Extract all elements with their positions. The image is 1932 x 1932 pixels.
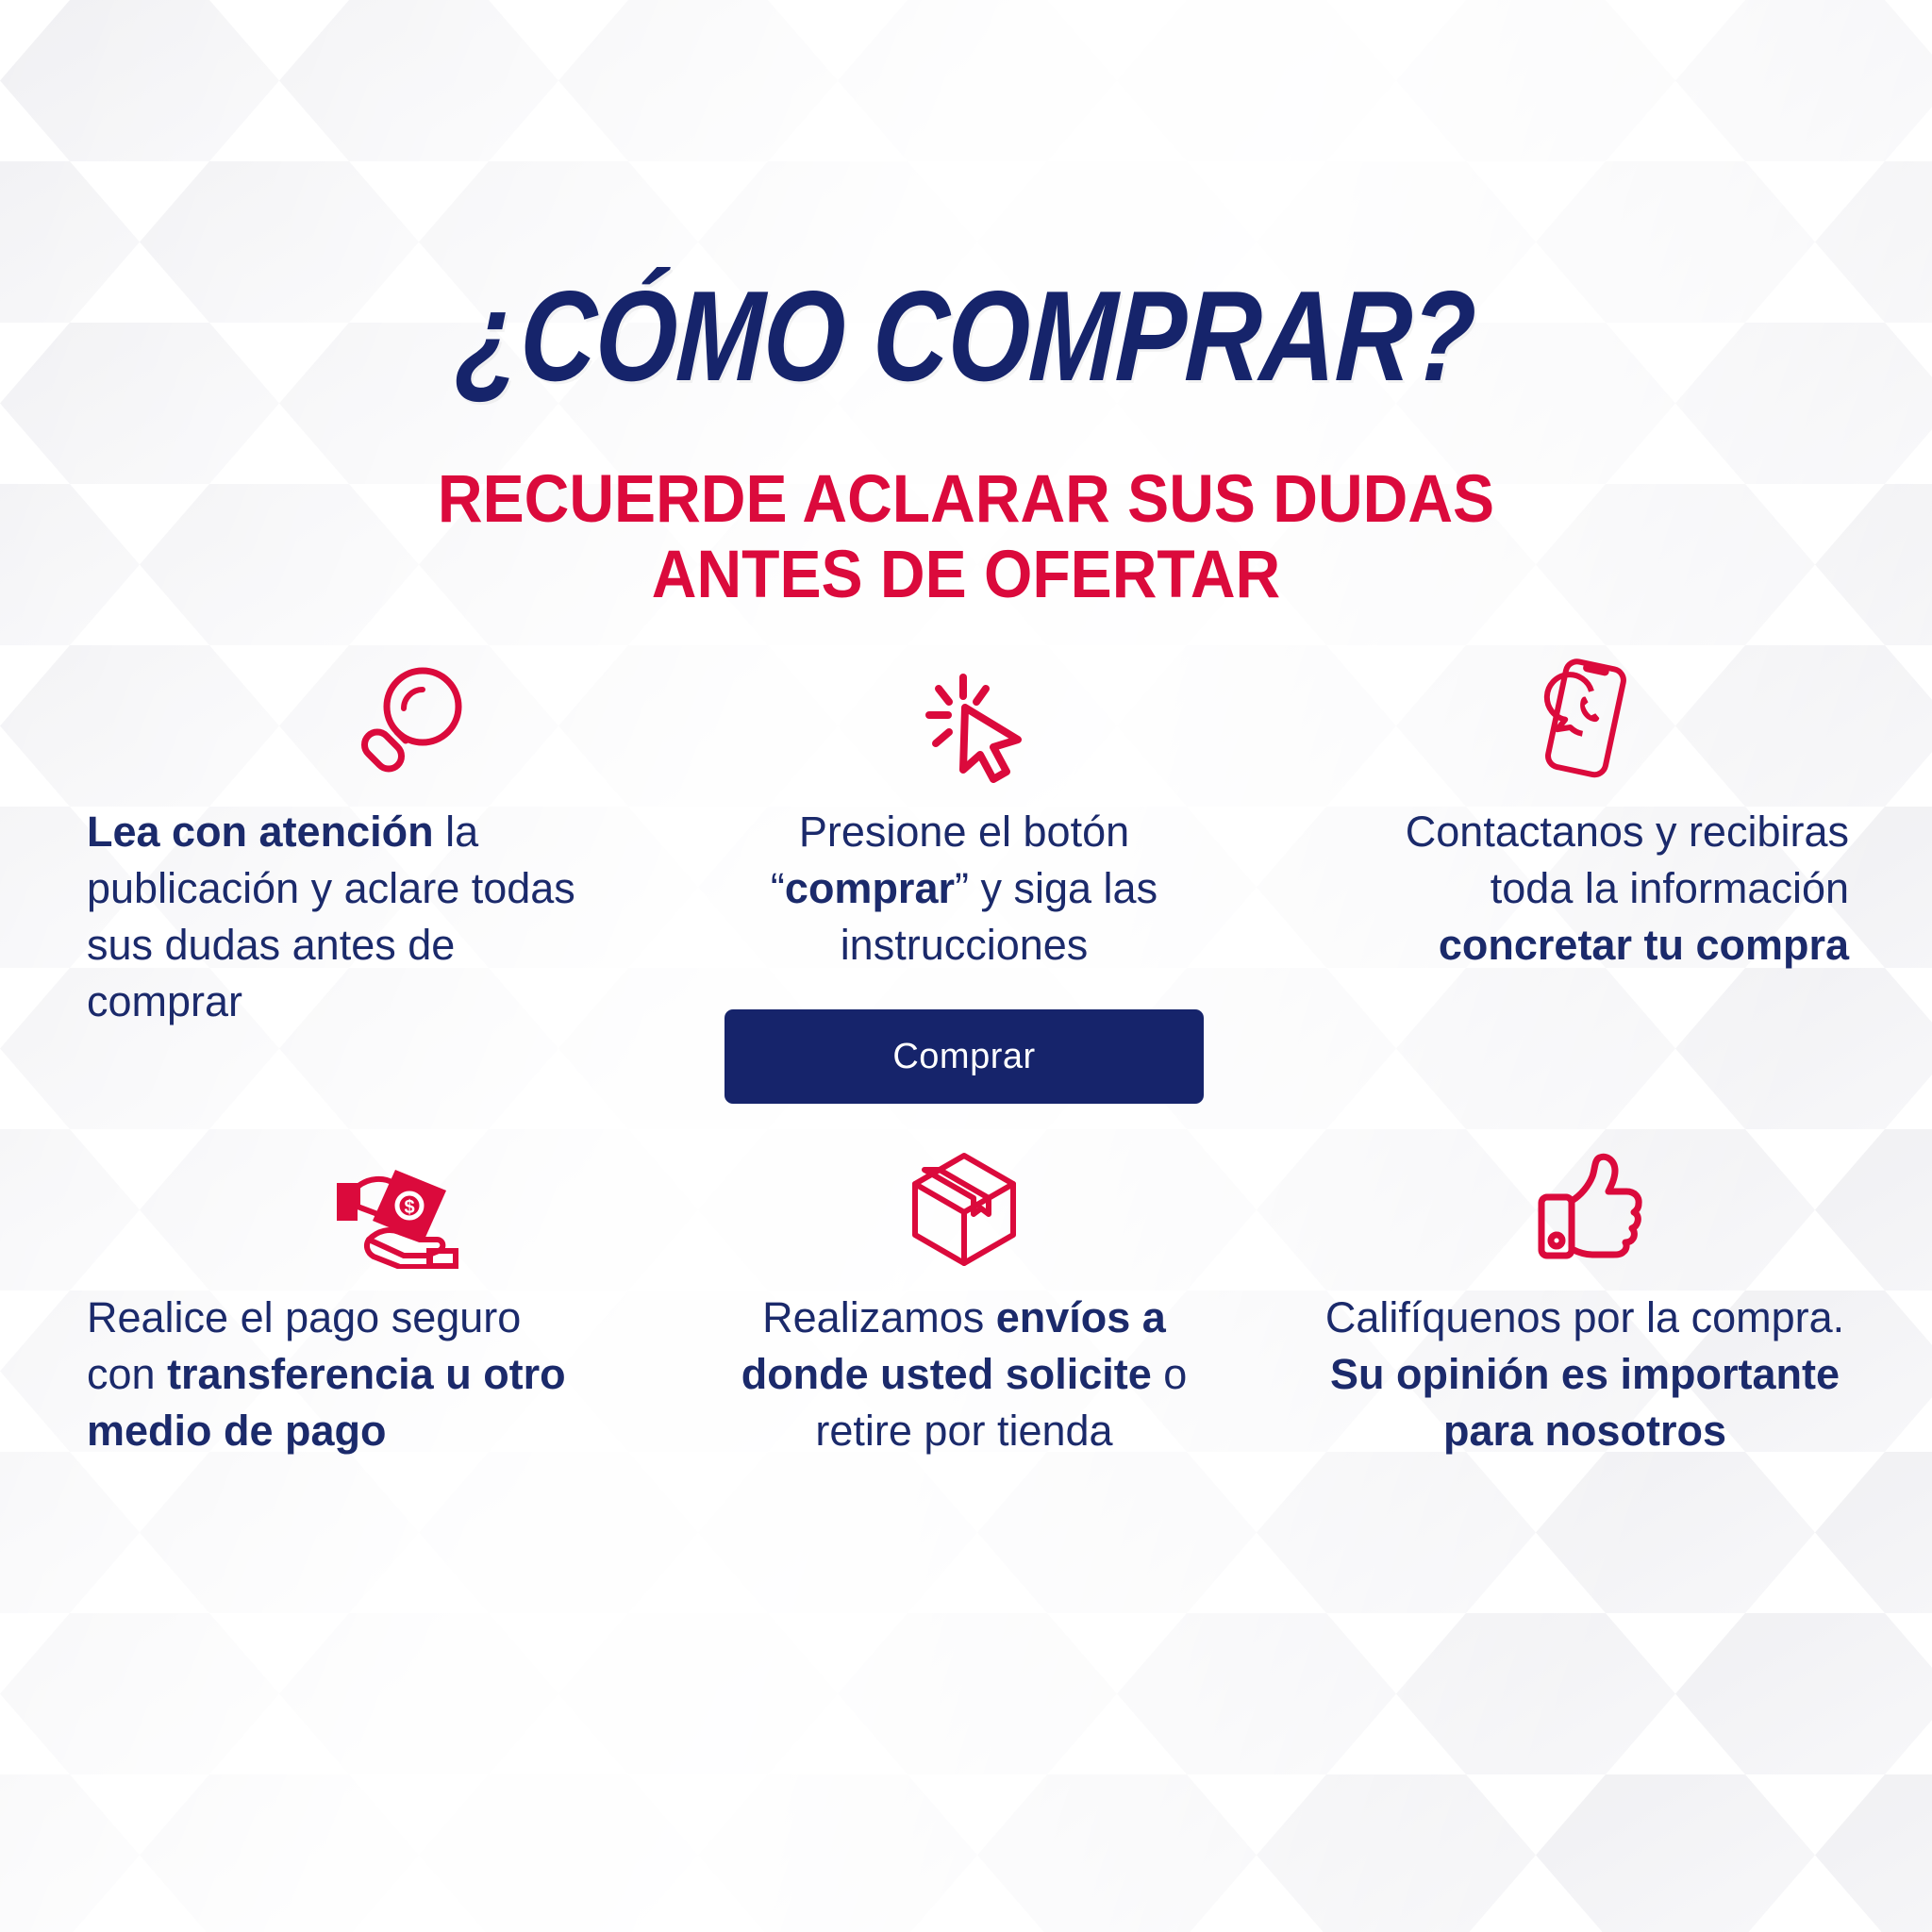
page-title: ¿CÓMO COMPRAR? bbox=[0, 272, 1932, 400]
lower-hand-cuff bbox=[429, 1251, 456, 1266]
card-secure-payment: $ Realice el pago seguro con transferenc… bbox=[87, 1146, 601, 1459]
cursor-arrow-shape bbox=[963, 708, 1018, 779]
card-ship-text: Realizamos envíos a donde usted solicite… bbox=[700, 1290, 1228, 1459]
card-contact-whatsapp: Contactanos y recibiras toda la informac… bbox=[1321, 660, 1849, 974]
subtitle: RECUERDE ACLARAR SUS DUDAS ANTES DE OFER… bbox=[0, 462, 1932, 613]
upper-hand-cuff bbox=[337, 1183, 358, 1221]
dollar-sign: $ bbox=[404, 1197, 414, 1218]
click-cursor-icon bbox=[920, 666, 1037, 783]
card-read-text: Lea con atención la publicación y aclare… bbox=[87, 804, 601, 1029]
comprar-button-label: Comprar bbox=[892, 1037, 1035, 1077]
whatsapp-phone-icon bbox=[1524, 653, 1646, 783]
card-contact-text: Contactanos y recibiras toda la informac… bbox=[1321, 804, 1849, 974]
main-title-text: ¿CÓMO COMPRAR? bbox=[455, 272, 1478, 400]
icon-container bbox=[700, 660, 1228, 783]
money-hands-icon: $ bbox=[325, 1151, 467, 1269]
icon-container bbox=[87, 660, 601, 783]
card-rate-us: Califíquenos por la compra. Su opinión e… bbox=[1321, 1146, 1849, 1459]
subtitle-line-2: ANTES DE OFERTAR bbox=[68, 538, 1865, 613]
lower-hand-palm bbox=[366, 1240, 429, 1267]
icon-container bbox=[1321, 660, 1849, 783]
card-shipping: Realizamos envíos a donde usted solicite… bbox=[700, 1146, 1228, 1459]
subtitle-line-1: RECUERDE ACLARAR SUS DUDAS bbox=[68, 462, 1865, 538]
card-rate-text: Califíquenos por la compra. Su opinión e… bbox=[1321, 1290, 1849, 1459]
icon-container: $ bbox=[87, 1146, 601, 1269]
card-pay-text: Realice el pago seguro con transferencia… bbox=[87, 1290, 601, 1459]
package-box-icon bbox=[906, 1148, 1023, 1269]
magnifier-icon bbox=[355, 664, 466, 783]
thumbs-up-icon bbox=[1526, 1148, 1643, 1269]
icon-container bbox=[700, 1146, 1228, 1269]
whatsapp-glyph bbox=[1541, 671, 1607, 738]
card-read-publication: Lea con atención la publicación y aclare… bbox=[87, 660, 601, 1029]
comprar-button[interactable]: Comprar bbox=[724, 1009, 1204, 1104]
cuff-dot bbox=[1551, 1235, 1562, 1246]
thumb-shape bbox=[1572, 1157, 1639, 1255]
card-press-buy-button: Presione el botón“comprar” y siga lasins… bbox=[700, 660, 1228, 974]
icon-container bbox=[1321, 1146, 1849, 1269]
card-buy-text: Presione el botón“comprar” y siga lasins… bbox=[700, 804, 1228, 974]
